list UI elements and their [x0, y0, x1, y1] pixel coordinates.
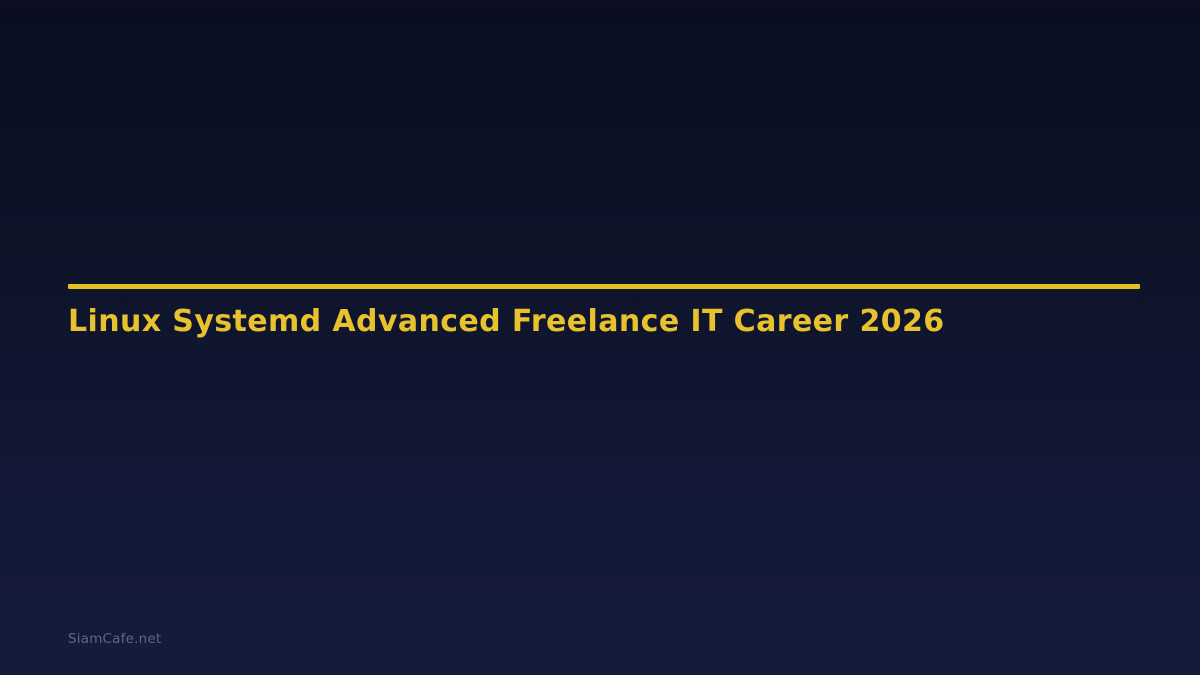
- slide-canvas: Linux Systemd Advanced Freelance IT Care…: [0, 0, 1200, 675]
- page-title: Linux Systemd Advanced Freelance IT Care…: [68, 302, 945, 342]
- footer-branding: SiamCafe.net: [68, 630, 161, 648]
- title-accent-bar: [68, 284, 1140, 289]
